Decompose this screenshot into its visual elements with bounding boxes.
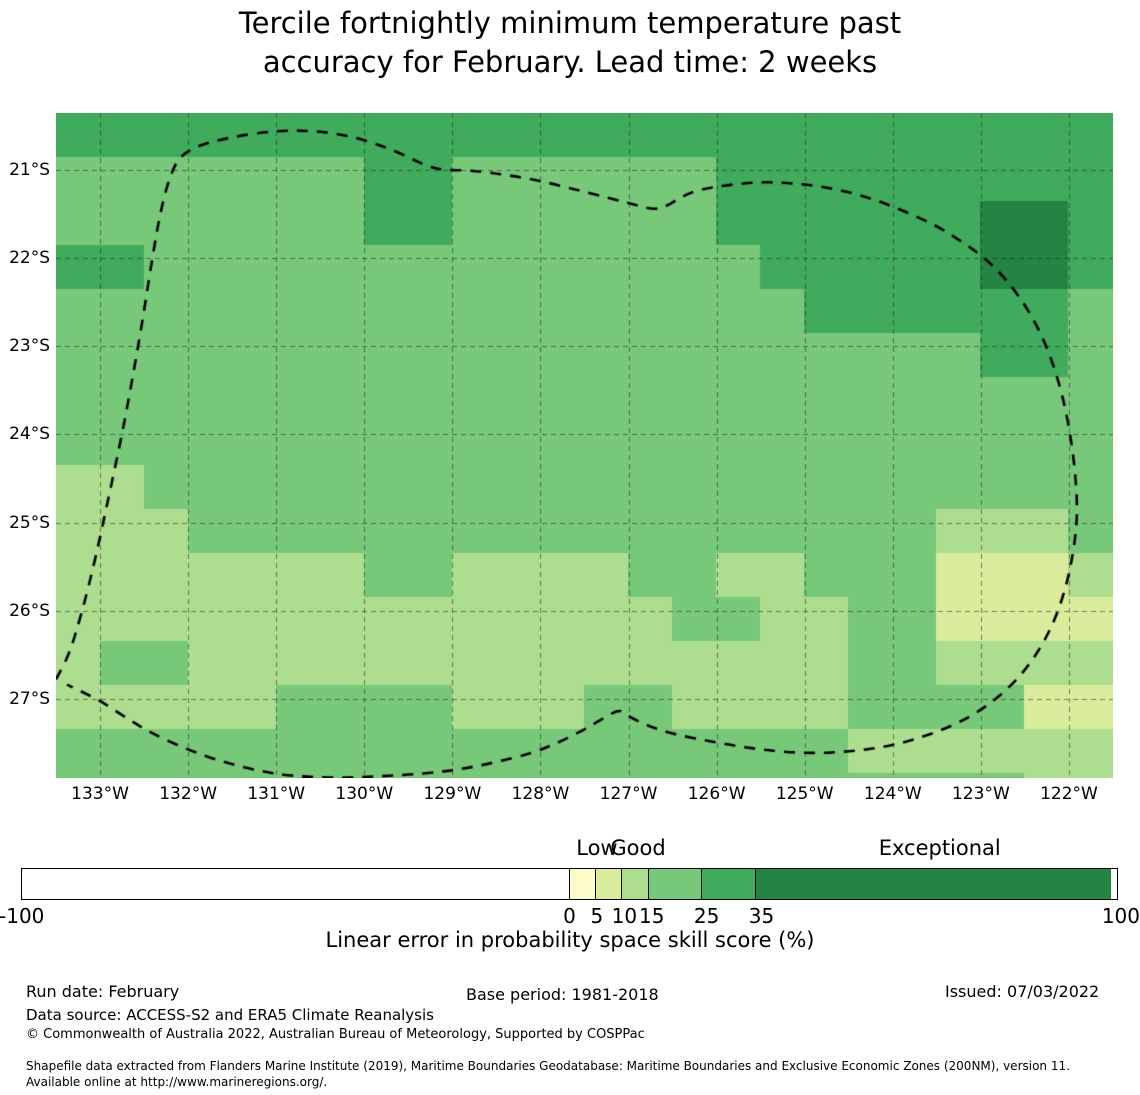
shapefile-note-text: Shapefile data extracted from Flanders M…: [26, 1058, 1121, 1090]
colorbar-tick-label: -100: [0, 904, 44, 928]
x-tick-label: 122°W: [1040, 784, 1098, 804]
colorbar-tick-label: 15: [639, 904, 664, 928]
x-tick-label: 124°W: [864, 784, 922, 804]
x-tick-label: 123°W: [952, 784, 1010, 804]
x-tick-label: 132°W: [159, 784, 217, 804]
run-date-text: Run date: February: [26, 982, 179, 1001]
x-tick-label: 129°W: [423, 784, 481, 804]
colorbar-band: [755, 869, 1111, 899]
x-tick-label: 125°W: [776, 784, 834, 804]
colorbar-band: [701, 869, 756, 899]
issued-date-text: Issued: 07/03/2022: [945, 982, 1099, 1001]
colorbar-band: [569, 869, 596, 899]
x-tick-label: 127°W: [600, 784, 658, 804]
colorbar-swatches: [21, 868, 1118, 900]
footer: Run date: February Base period: 1981-201…: [0, 982, 1140, 1095]
colorbar-legend: LowGoodExceptional -1000510152535100 Lin…: [0, 836, 1140, 956]
copyright-text: © Commonwealth of Australia 2022, Austra…: [26, 1027, 645, 1042]
colorbar-tick-label: 35: [749, 904, 774, 928]
base-period-text: Base period: 1981-2018: [466, 985, 659, 1004]
colorbar-tick-label: 100: [1102, 904, 1140, 928]
colorbar-category-label: Exceptional: [879, 836, 1001, 860]
colorbar-band: [621, 869, 648, 899]
x-tick-label: 126°W: [688, 784, 746, 804]
colorbar-band: [595, 869, 622, 899]
colorbar-tick-label: 10: [612, 904, 637, 928]
colorbar-tick-label: 0: [563, 904, 576, 928]
x-tick-label: 128°W: [512, 784, 570, 804]
chart-page: Tercile fortnightly minimum temperature …: [0, 0, 1140, 1095]
colorbar-band: [22, 869, 570, 899]
colorbar-tick-label: 25: [694, 904, 719, 928]
x-tick-label: 131°W: [247, 784, 305, 804]
data-source-text: Data source: ACCESS-S2 and ERA5 Climate …: [26, 1006, 434, 1024]
colorbar-axis-title: Linear error in probability space skill …: [0, 928, 1140, 952]
colorbar-band: [648, 869, 703, 899]
colorbar-tick-label: 5: [591, 904, 604, 928]
x-tick-label: 133°W: [71, 784, 129, 804]
x-tick-label: 130°W: [335, 784, 393, 804]
colorbar-category-label: Good: [610, 836, 665, 860]
